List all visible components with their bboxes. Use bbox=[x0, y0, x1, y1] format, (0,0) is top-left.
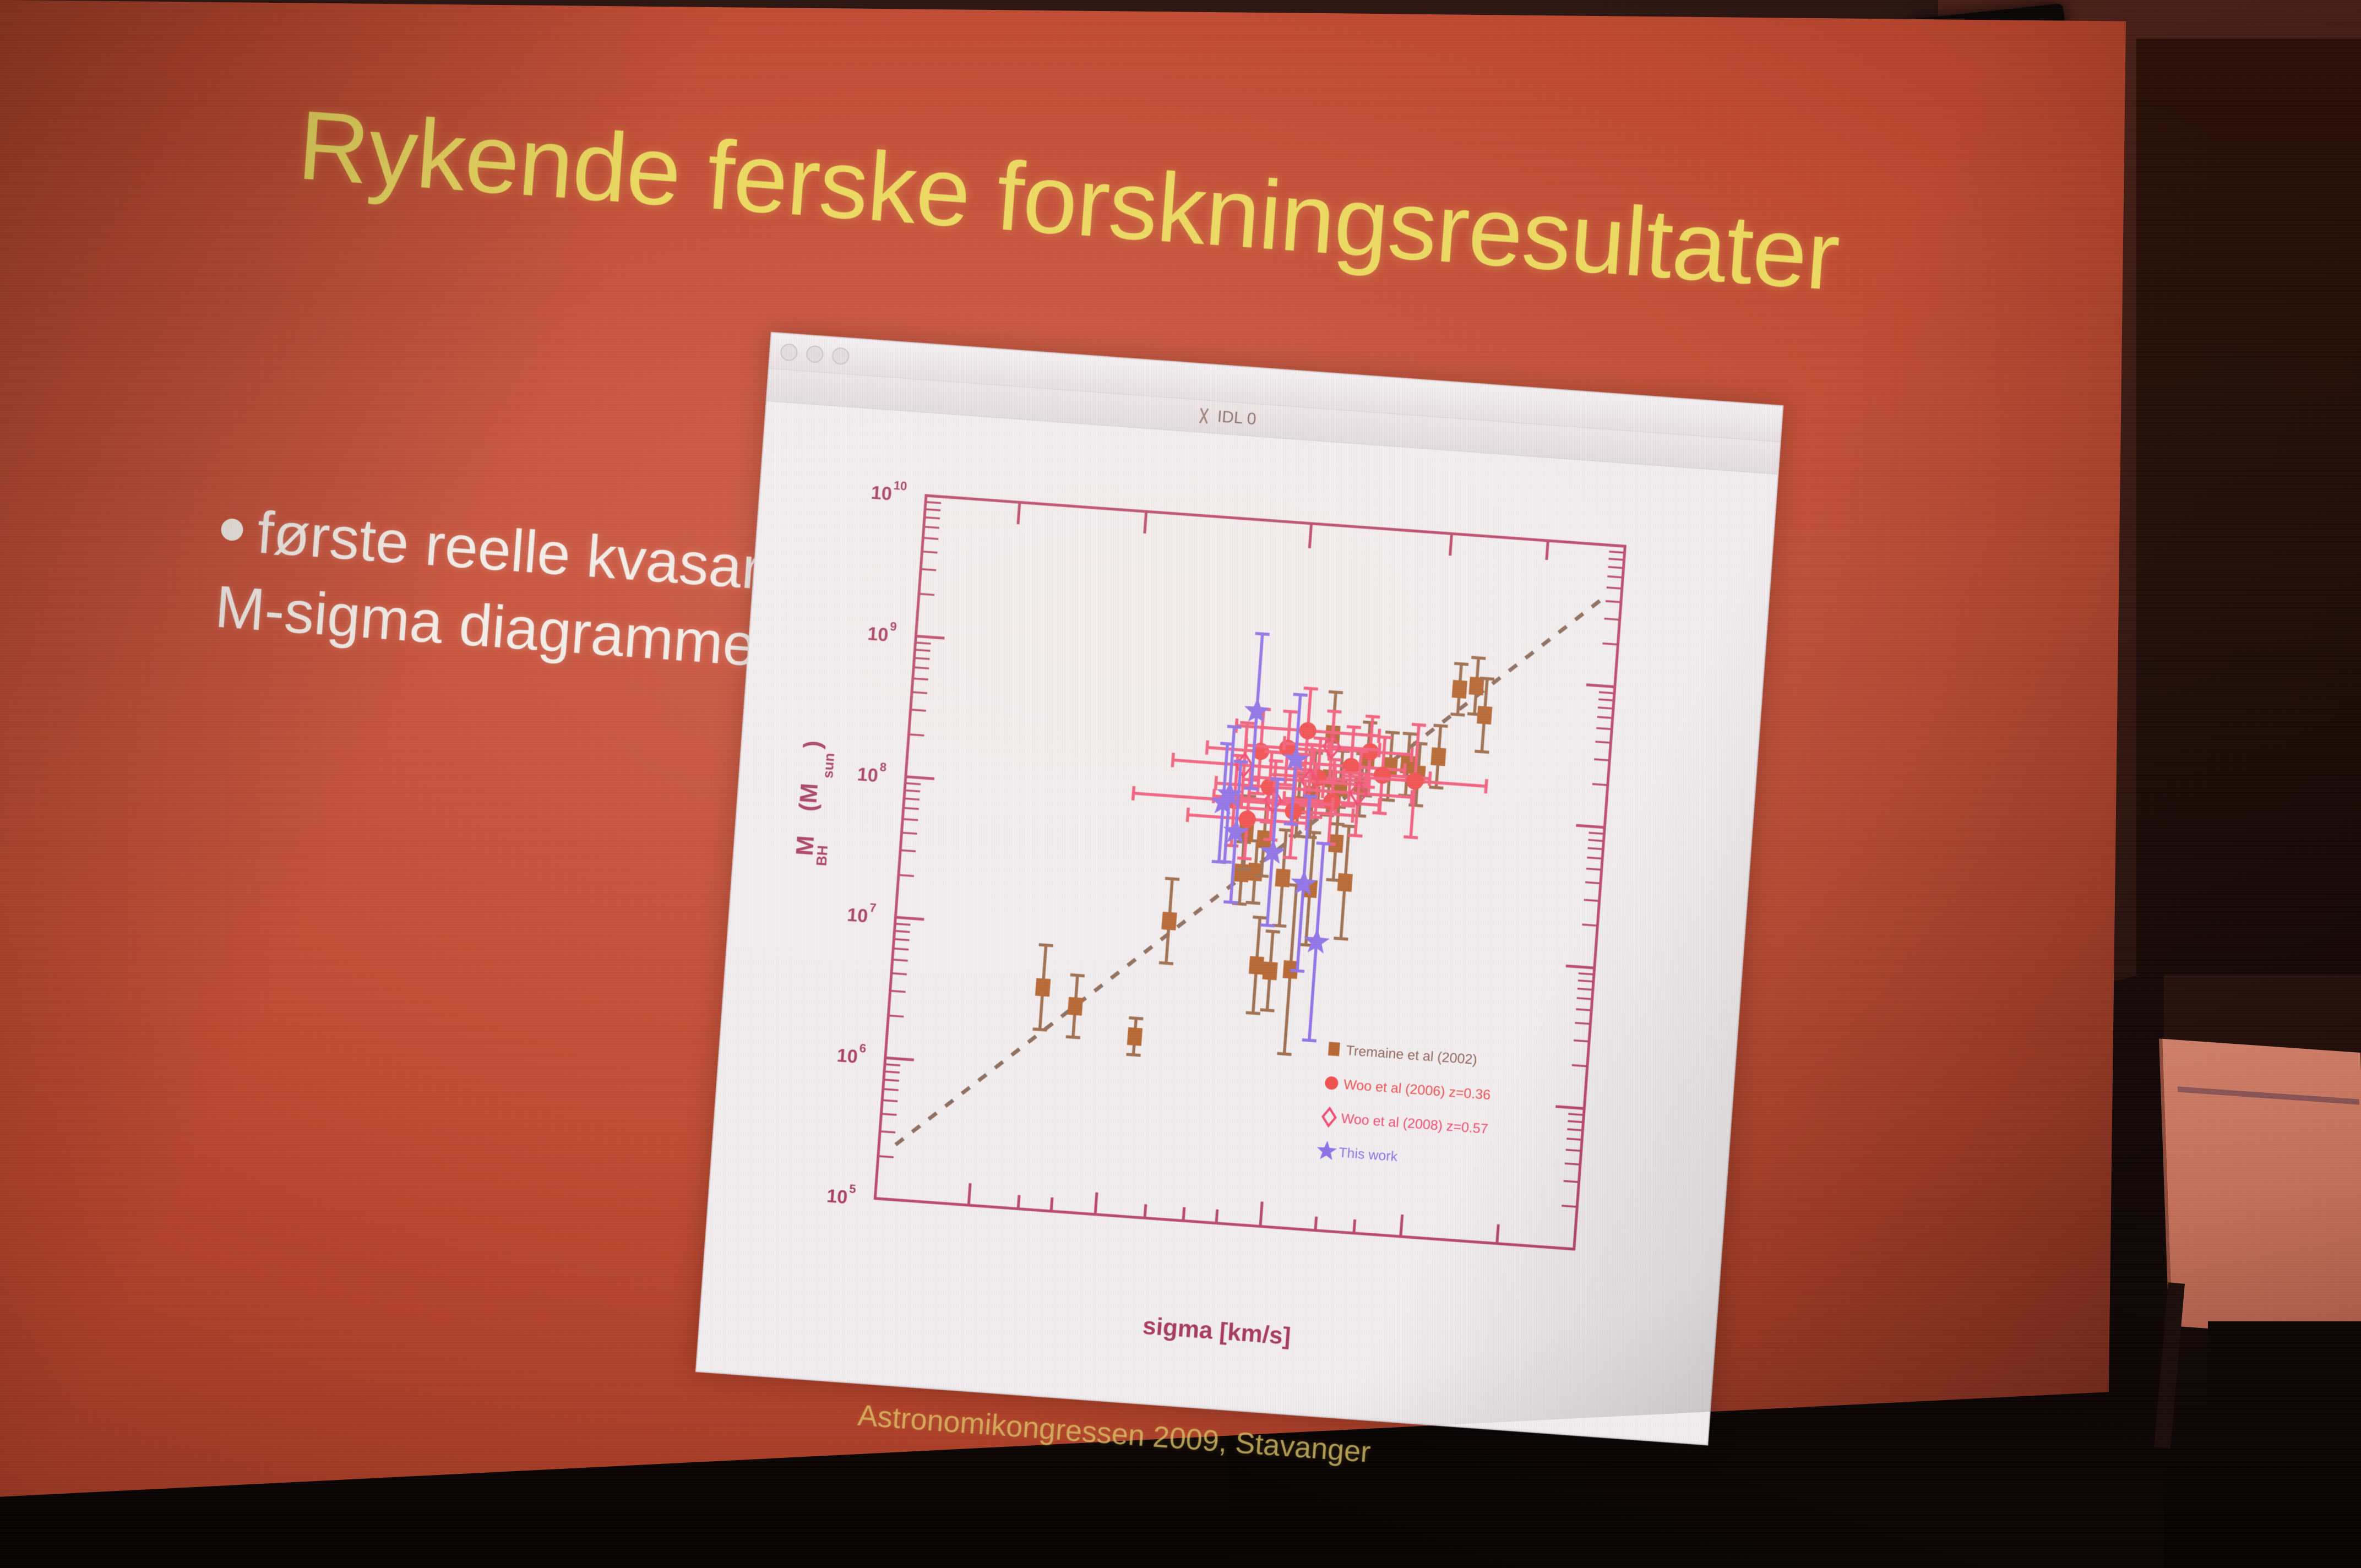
data-point bbox=[1450, 663, 1468, 715]
tab-label: IDL 0 bbox=[1217, 407, 1257, 429]
svg-text:sun: sun bbox=[819, 752, 837, 778]
photo-of-projected-slide: Rykende ferske forskningsresultater førs… bbox=[0, 0, 2361, 1568]
svg-text:Tremaine et al (2002): Tremaine et al (2002) bbox=[1346, 1043, 1478, 1068]
data-points-layer bbox=[1031, 619, 1497, 1079]
right-wall-shadow bbox=[2136, 39, 2361, 974]
svg-text:9: 9 bbox=[890, 619, 897, 634]
idl-window[interactable]: IDL 0 bbox=[695, 332, 1783, 1445]
data-point bbox=[1467, 657, 1486, 715]
svg-text:Woo et al (2008) z=0.57: Woo et al (2008) z=0.57 bbox=[1341, 1111, 1489, 1137]
svg-text:5: 5 bbox=[848, 1182, 856, 1196]
close-button-icon[interactable] bbox=[780, 343, 798, 361]
chart-legend: Tremaine et al (2002)Woo et al (2006) z=… bbox=[1316, 1041, 1493, 1171]
svg-text:BH: BH bbox=[813, 845, 831, 867]
svg-text:Woo et al (2006) z=0.36: Woo et al (2006) z=0.36 bbox=[1343, 1077, 1491, 1103]
slide-content: Rykende ferske forskningsresultater førs… bbox=[0, 0, 2142, 1568]
easel-base bbox=[2208, 1321, 2361, 1426]
svg-text:7: 7 bbox=[869, 901, 877, 915]
data-point bbox=[1066, 975, 1085, 1038]
flipchart-easel bbox=[2159, 1038, 2361, 1340]
legend-item: Woo et al (2008) z=0.57 bbox=[1322, 1108, 1489, 1137]
data-point bbox=[1159, 878, 1179, 963]
plot-canvas: 10 10 10 9 10 8 10 7 10 6 10 5 bbox=[697, 401, 1777, 1442]
svg-text:10: 10 bbox=[826, 1185, 848, 1208]
svg-text:): ) bbox=[799, 739, 826, 749]
svg-text:8: 8 bbox=[879, 760, 887, 774]
data-point bbox=[1260, 931, 1280, 1011]
svg-text:10: 10 bbox=[871, 482, 893, 505]
y-axis-minor-ticks bbox=[878, 502, 1625, 1207]
data-point bbox=[1033, 945, 1053, 1030]
svg-text:10: 10 bbox=[857, 764, 879, 786]
traffic-light-buttons[interactable] bbox=[780, 343, 850, 365]
minimize-button-icon[interactable] bbox=[806, 345, 824, 363]
data-point bbox=[1429, 725, 1448, 788]
svg-text:10: 10 bbox=[893, 478, 907, 493]
legend-item: Woo et al (2006) z=0.36 bbox=[1324, 1075, 1491, 1103]
data-point bbox=[1126, 1018, 1143, 1055]
bullet-dot-icon bbox=[220, 518, 244, 542]
svg-text:10: 10 bbox=[846, 905, 869, 927]
svg-text:10: 10 bbox=[836, 1045, 859, 1068]
legend-item: Tremaine et al (2002) bbox=[1328, 1042, 1478, 1068]
page-title: Rykende ferske forskningsresultater bbox=[295, 94, 1895, 312]
legend-item: This work bbox=[1316, 1140, 1399, 1165]
m-sigma-scatter-chart: 10 10 10 9 10 8 10 7 10 6 10 5 bbox=[697, 401, 1777, 1442]
svg-text:This work: This work bbox=[1338, 1145, 1398, 1165]
idl-logo-icon bbox=[1196, 408, 1211, 423]
svg-text:6: 6 bbox=[859, 1041, 867, 1055]
tab-idl-0[interactable]: IDL 0 bbox=[1196, 406, 1257, 429]
x-axis-title: sigma [km/s] bbox=[1142, 1313, 1292, 1350]
zoom-button-icon[interactable] bbox=[831, 347, 850, 365]
svg-text:(M: (M bbox=[795, 782, 824, 813]
svg-text:10: 10 bbox=[867, 623, 889, 646]
y-axis-tick-labels: 10 10 10 9 10 8 10 7 10 6 10 5 bbox=[819, 477, 907, 1208]
data-point bbox=[1296, 842, 1336, 1041]
